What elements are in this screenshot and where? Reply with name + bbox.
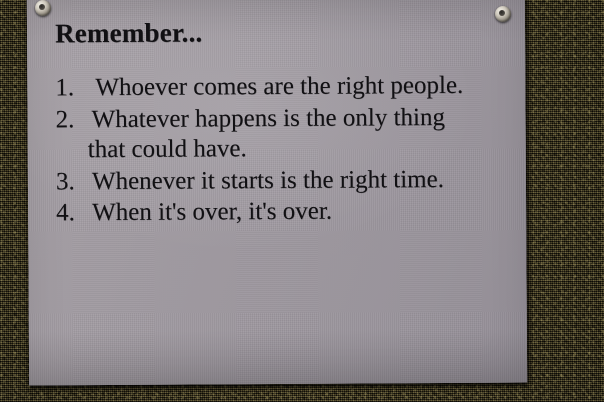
list-item-number: 2. xyxy=(55,105,87,136)
list-item-text: Whoever comes are the right people. xyxy=(91,71,483,104)
pushpin-icon xyxy=(35,0,51,16)
list-item: 1. Whoever comes are the right people. xyxy=(55,71,505,104)
paper-sign: Remember... 1. Whoever comes are the rig… xyxy=(27,0,527,386)
list-item-number: 3. xyxy=(56,167,88,198)
list-item-text: Whatever happens is the only thing that … xyxy=(87,103,479,166)
pushpin-icon xyxy=(495,6,511,22)
sign-content: Remember... 1. Whoever comes are the rig… xyxy=(27,0,527,386)
photo-scene: Remember... 1. Whoever comes are the rig… xyxy=(0,0,604,402)
list-item: 3. Whenever it starts is the right time. xyxy=(56,164,506,197)
sign-title: Remember... xyxy=(55,17,505,48)
list-item-number: 4. xyxy=(56,198,88,229)
list-item: 2. Whatever happens is the only thing th… xyxy=(55,102,505,166)
list-item-text: When it's over, it's over. xyxy=(88,196,480,229)
list-item: 4. When it's over, it's over. xyxy=(56,196,506,229)
list-item-number: 1. xyxy=(55,73,91,104)
list-item-text: Whenever it starts is the right time. xyxy=(88,165,480,198)
sign-list: 1. Whoever comes are the right people. 2… xyxy=(55,71,506,229)
